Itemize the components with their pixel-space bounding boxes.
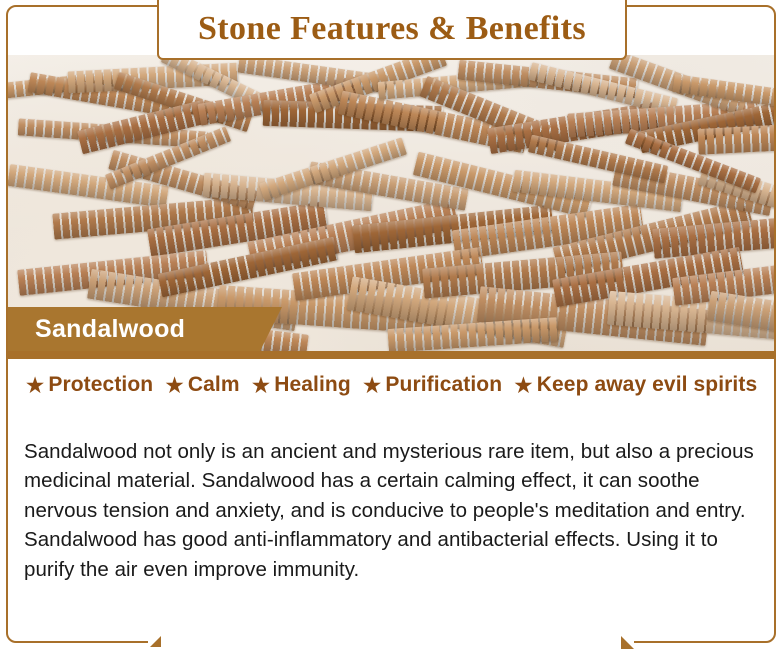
benefit-item: ★ Healing xyxy=(251,373,351,397)
star-icon: ★ xyxy=(25,374,46,397)
benefit-item: ★ Keep away evil spirits xyxy=(513,373,757,397)
benefit-item: ★ Purification xyxy=(362,373,502,397)
infographic-card: Sandalwood Stone Features & Benefits ★ P… xyxy=(0,0,782,649)
benefits-row: ★ Protection ★ Calm ★ Healing ★ Purifica… xyxy=(8,373,774,397)
benefit-label: Healing xyxy=(274,373,351,397)
star-icon: ★ xyxy=(164,374,185,397)
star-icon: ★ xyxy=(251,374,272,397)
page-title: Stone Features & Benefits xyxy=(198,10,586,48)
caption-label: Sandalwood xyxy=(8,315,185,344)
star-icon: ★ xyxy=(513,374,534,397)
title-banner: Stone Features & Benefits xyxy=(157,0,627,60)
caption-banner: Sandalwood xyxy=(8,307,260,351)
benefit-item: ★ Calm xyxy=(164,373,239,397)
star-icon: ★ xyxy=(362,374,383,397)
benefit-item: ★ Protection xyxy=(25,373,153,397)
benefit-label: Keep away evil spirits xyxy=(537,373,757,397)
benefit-label: Calm xyxy=(188,373,240,397)
section-divider xyxy=(8,351,774,359)
description-paragraph: Sandalwood not only is an ancient and my… xyxy=(24,437,754,585)
benefit-label: Purification xyxy=(385,373,502,397)
benefit-label: Protection xyxy=(48,373,153,397)
